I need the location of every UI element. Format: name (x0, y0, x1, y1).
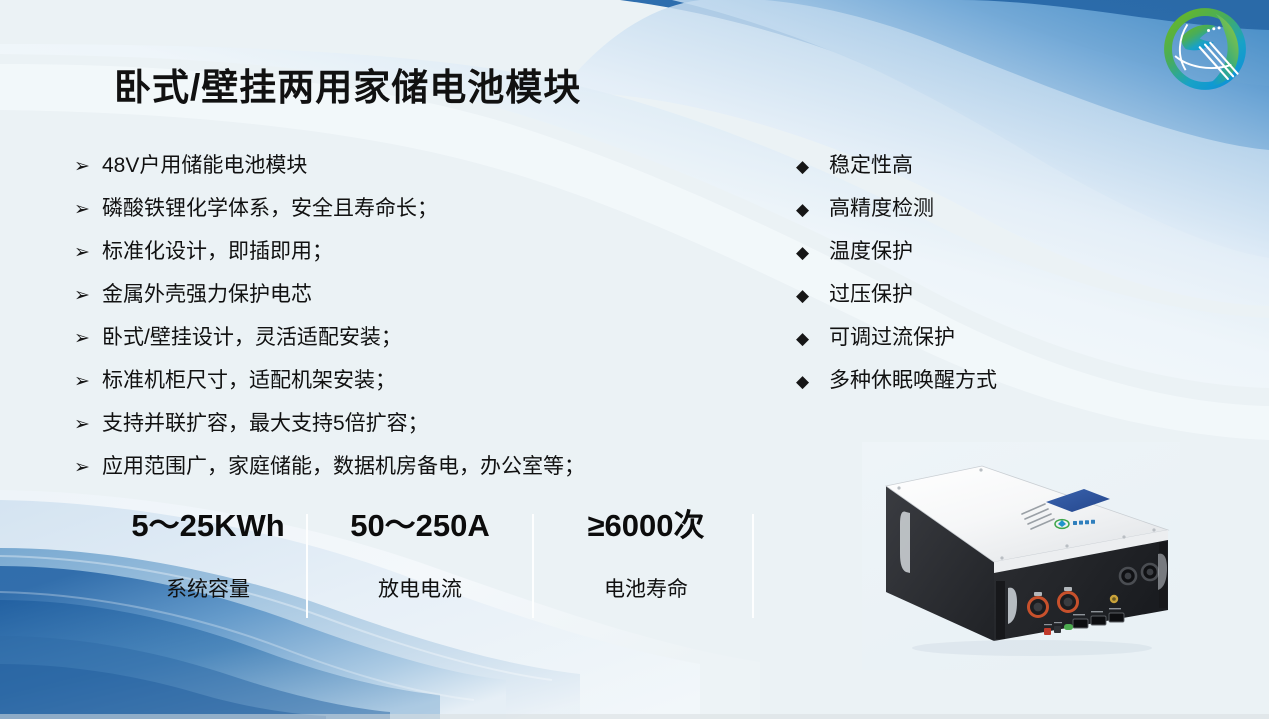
list-item: ➢ 磷酸铁锂化学体系，安全且寿命长； (74, 198, 734, 241)
diamond-bullet-icon: ◆ (796, 373, 829, 390)
stat-capacity: 5～25KWh 系统容量 (108, 510, 308, 600)
list-item: ◆ 稳定性高 (796, 155, 1096, 198)
list-item-label: 支持并联扩容，最大支持5倍扩容； (102, 413, 429, 434)
company-logo-icon (1161, 5, 1249, 93)
list-item-label: 卧式/壁挂设计，灵活适配安装； (102, 327, 402, 348)
list-item: ➢ 金属外壳强力保护电芯 (74, 284, 734, 327)
list-item: ➢ 标准化设计，即插即用； (74, 241, 734, 284)
feature-list-right: ◆ 稳定性高 ◆ 高精度检测 ◆ 温度保护 ◆ 过压保护 ◆ 可调过流保护 ◆ … (796, 155, 1096, 413)
stat-value: 5～25KWh (108, 510, 308, 541)
list-item-label: 48V户用储能电池模块 (102, 155, 307, 176)
arrow-bullet-icon: ➢ (74, 157, 102, 176)
list-item: ◆ 温度保护 (796, 241, 1096, 284)
stat-divider (532, 514, 534, 618)
stat-value: 50～250A (320, 510, 520, 541)
spec-stats-row: 5～25KWh 系统容量 50～250A 放电电流 ≥6000次 电池寿命 (108, 510, 788, 620)
list-item: ◆ 高精度检测 (796, 198, 1096, 241)
list-item: ➢ 卧式/壁挂设计，灵活适配安装； (74, 327, 734, 370)
list-item-label: 标准化设计，即插即用； (102, 241, 333, 262)
list-item-label: 高精度检测 (829, 198, 934, 219)
stat-label: 电池寿命 (546, 579, 746, 600)
arrow-bullet-icon: ➢ (74, 415, 102, 434)
list-item-label: 磷酸铁锂化学体系，安全且寿命长； (102, 198, 438, 219)
stat-label: 放电电流 (320, 579, 520, 600)
list-item: ➢ 应用范围广，家庭储能，数据机房备电，办公室等； (74, 456, 734, 499)
list-item-label: 多种休眠唤醒方式 (829, 370, 997, 391)
stat-value: ≥6000次 (546, 510, 746, 541)
diamond-bullet-icon: ◆ (796, 244, 829, 261)
list-item-label: 稳定性高 (829, 155, 913, 176)
list-item: ➢ 支持并联扩容，最大支持5倍扩容； (74, 413, 734, 456)
diamond-bullet-icon: ◆ (796, 287, 829, 304)
list-item-label: 金属外壳强力保护电芯 (102, 284, 312, 305)
diamond-bullet-icon: ◆ (796, 330, 829, 347)
stat-divider (752, 514, 754, 618)
list-item-label: 温度保护 (829, 241, 913, 262)
list-item: ◆ 过压保护 (796, 284, 1096, 327)
feature-list-left: ➢ 48V户用储能电池模块 ➢ 磷酸铁锂化学体系，安全且寿命长； ➢ 标准化设计… (74, 155, 734, 499)
arrow-bullet-icon: ➢ (74, 200, 102, 219)
arrow-bullet-icon: ➢ (74, 286, 102, 305)
product-photo-battery-module (862, 442, 1180, 670)
stat-label: 系统容量 (108, 579, 308, 600)
stat-cycle-life: ≥6000次 电池寿命 (546, 510, 746, 600)
list-item: ➢ 标准机柜尺寸，适配机架安装； (74, 370, 734, 413)
stat-divider (306, 514, 308, 618)
presentation-slide: 卧式/壁挂两用家储电池模块 ➢ 48V户用储能电池模块 ➢ 磷酸铁锂化学体系，安… (0, 0, 1269, 719)
list-item: ◆ 多种休眠唤醒方式 (796, 370, 1096, 413)
arrow-bullet-icon: ➢ (74, 243, 102, 262)
list-item-label: 标准机柜尺寸，适配机架安装； (102, 370, 396, 391)
list-item-label: 过压保护 (829, 284, 913, 305)
arrow-bullet-icon: ➢ (74, 372, 102, 391)
slide-title: 卧式/壁挂两用家储电池模块 (114, 57, 581, 111)
diamond-bullet-icon: ◆ (796, 158, 829, 175)
diamond-bullet-icon: ◆ (796, 201, 829, 218)
arrow-bullet-icon: ➢ (74, 458, 102, 477)
stat-discharge-current: 50～250A 放电电流 (320, 510, 520, 600)
list-item: ◆ 可调过流保护 (796, 327, 1096, 370)
list-item-label: 可调过流保护 (829, 327, 955, 348)
list-item-label: 应用范围广，家庭储能，数据机房备电，办公室等； (102, 456, 585, 477)
list-item: ➢ 48V户用储能电池模块 (74, 155, 734, 198)
arrow-bullet-icon: ➢ (74, 329, 102, 348)
